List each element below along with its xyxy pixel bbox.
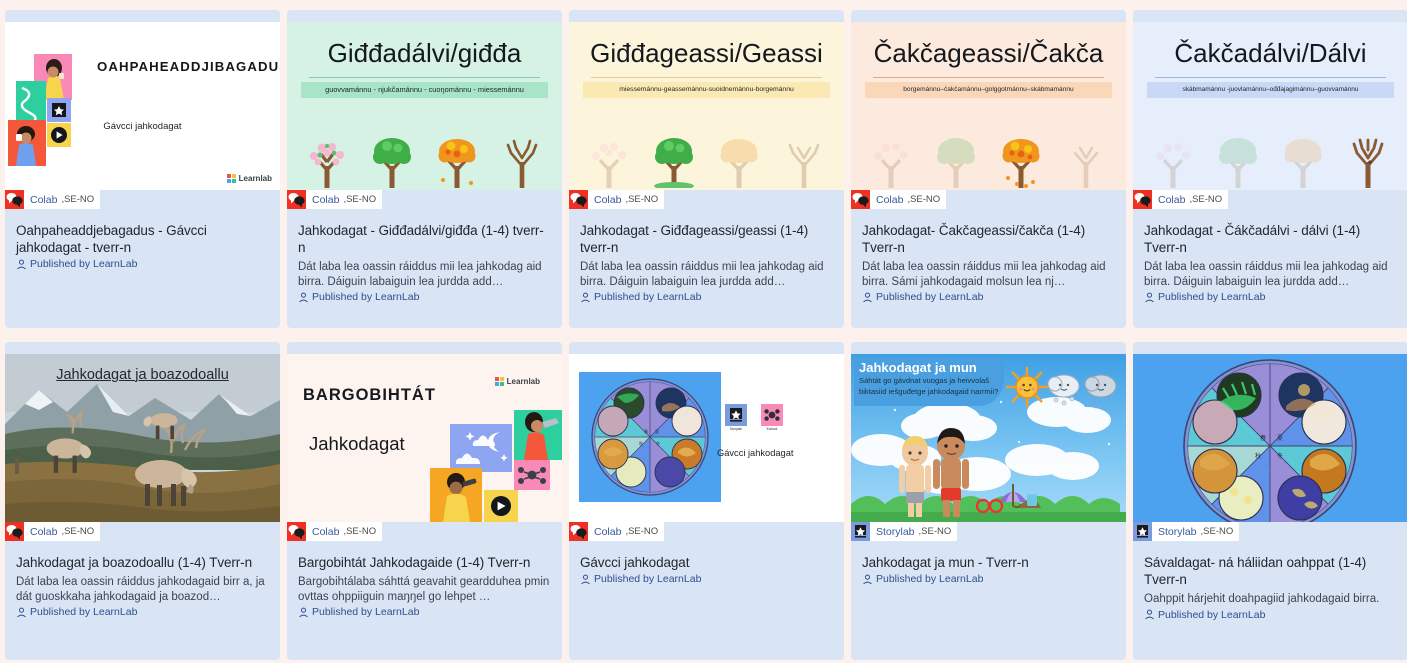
card-body: Jahkodagat - Čákčadálvi - dálvi (1-4) Tv…	[1133, 209, 1407, 328]
thumb-months: skábmamánnu -juovlamánnu–ođđajagimánnu–g…	[1147, 82, 1394, 98]
seasons-wheel-graphic: 春夏秋冬 ·	[1133, 354, 1407, 522]
learnlab-wordmark: Learnlab	[239, 174, 272, 183]
learnlab-mark-icon	[227, 174, 236, 183]
resource-card[interactable]: Jahkodagat ja mun Sáhtát go gávdnat vuog…	[851, 342, 1126, 660]
colab-icon	[851, 190, 870, 209]
badge-label: Colab	[876, 194, 903, 206]
kahoot-app-tile: Kahoot	[761, 404, 783, 426]
learnlab-wordmark: Learnlab	[507, 377, 540, 386]
badge-locale: ,SE-NO	[1189, 194, 1222, 205]
badge-locale: ,SE-NO	[61, 526, 94, 537]
badge-locale: ,SE-NO	[1201, 526, 1234, 537]
card-thumbnail: Čakčadálvi/Dálvi skábmamánnu -juovlamánn…	[1133, 22, 1407, 190]
badge-label: Colab	[30, 194, 57, 206]
person-icon	[580, 574, 591, 585]
card-body: Jahkodagat- Čakčageassi/čakča (1-4) Tver…	[851, 209, 1126, 328]
resource-card[interactable]: OAHPAHEADDJIBAGADUS Gávcci jahkodagat Le…	[5, 10, 280, 328]
card-meta-label: Published by LearnLab	[30, 606, 137, 618]
card-meta-label: Published by LearnLab	[594, 573, 701, 585]
badge-locale: ,SE-NO	[625, 194, 658, 205]
resource-card-grid: OAHPAHEADDJIBAGADUS Gávcci jahkodagat Le…	[0, 0, 1407, 660]
card-title: Sávaldagat- ná háliidan oahppat (1-4) Tv…	[1144, 554, 1397, 588]
card-title: Jahkodagat ja boazodoallu (1-4) Tverr-n	[16, 554, 269, 571]
badge-label: Storylab	[876, 526, 915, 538]
four-seasons-trees	[295, 110, 554, 188]
thumb-months: guovvamánnu - njukčamánnu - cuoŋománnu -…	[301, 82, 548, 98]
storylab-app-tile: Storylab	[725, 404, 747, 426]
source-badge: Colab ,SE-NO	[569, 522, 664, 541]
thumb-season-title: Čakčadálvi/Dálvi	[1133, 38, 1407, 69]
source-badge: Colab ,SE-NO	[1133, 190, 1228, 209]
card-description: Dát laba lea oassin ráiddus mii lea jahk…	[580, 260, 833, 289]
resource-card[interactable]: Jahkodagat ja boazodoallu Colab ,SE-NO J…	[5, 342, 280, 660]
thumb-bubble-text: Sáhtát go gávdnat vuogas ja heivvolaš bi…	[859, 376, 1007, 397]
resource-card[interactable]: 春夏秋冬 Storylab Kahoot Gávcci jahkodagat	[569, 342, 844, 660]
badge-locale: ,SE-NO	[919, 526, 952, 537]
badge-locale: ,SE-NO	[907, 194, 940, 205]
storylab-book-icon	[1133, 522, 1152, 541]
colab-icon	[1133, 190, 1152, 209]
badge-locale: ,SE-NO	[343, 194, 376, 205]
seasons-wheel-graphic: 春夏秋冬	[579, 372, 721, 502]
sun-icon	[1006, 367, 1048, 407]
thumb-heading: BARGOBIHTÁT	[303, 386, 436, 405]
svg-text:夏: 夏	[1277, 435, 1283, 442]
card-body: Jahkodagat ja boazodoallu (1-4) Tverr-n …	[5, 541, 280, 660]
resource-card[interactable]: Giđđageassi/Geassi miessemánnu-geassemán…	[569, 10, 844, 328]
colab-icon	[287, 522, 306, 541]
card-body: Jahkodagat ja mun - Tverr-n Published by…	[851, 541, 1126, 660]
card-title: Jahkodagat ja mun - Tverr-n	[862, 554, 1115, 571]
resource-card[interactable]: Čakčadálvi/Dálvi skábmamánnu -juovlamánn…	[1133, 10, 1407, 328]
card-body: Sávaldagat- ná háliidan oahppat (1-4) Tv…	[1133, 541, 1407, 660]
source-badge: Storylab ,SE-NO	[851, 522, 957, 541]
badge-label: Colab	[30, 526, 57, 538]
card-title: Gávcci jahkodagat	[580, 554, 833, 571]
card-thumbnail: Giđđadálvi/giđđa guovvamánnu - njukčamán…	[287, 22, 562, 190]
card-meta: Published by LearnLab	[16, 258, 269, 270]
person-icon	[862, 292, 873, 303]
badge-label: Colab	[1158, 194, 1185, 206]
colab-icon	[287, 190, 306, 209]
card-meta-label: Published by LearnLab	[312, 291, 419, 303]
card-body: Bargobihtát Jahkodagaide (1-4) Tverr-n B…	[287, 541, 562, 660]
card-meta: Published by LearnLab	[298, 291, 551, 303]
badge-label: Colab	[594, 526, 621, 538]
card-meta: Published by LearnLab	[580, 291, 833, 303]
person-icon	[298, 607, 309, 618]
card-thumbnail: 春夏秋冬 ·	[1133, 354, 1407, 522]
card-body: Jahkodagat - Giđđadálvi/giđđa (1-4) tver…	[287, 209, 562, 328]
badge-label: Storylab	[1158, 526, 1197, 538]
source-badge: Colab ,SE-NO	[851, 190, 946, 209]
svg-text:冬: 冬	[1277, 452, 1283, 460]
card-thumbnail: Čakčageassi/Čakča borgemánnu–čakčamánnu–…	[851, 22, 1126, 190]
svg-text:秋: 秋	[639, 440, 643, 446]
source-badge: Colab ,SE-NO	[5, 190, 100, 209]
card-meta-label: Published by LearnLab	[1158, 609, 1265, 621]
badge-label: Colab	[594, 194, 621, 206]
thumb-subtitle: Gávcci jahkodagat	[5, 121, 280, 132]
four-seasons-trees	[1141, 110, 1400, 188]
svg-text:冬: 冬	[656, 440, 660, 446]
thumb-bubble-title: Jahkodagat ja mun	[859, 360, 977, 375]
thumb-subheading: Jahkodagat	[309, 433, 405, 455]
card-meta-label: Published by LearnLab	[30, 258, 137, 270]
card-title: Jahkodagat - Giđđadálvi/giđđa (1-4) tver…	[298, 222, 551, 256]
source-badge: Storylab ,SE-NO	[1133, 522, 1239, 541]
card-body: Oahpaheaddjebagadus - Gávcci jahkodagat …	[5, 209, 280, 328]
resource-card[interactable]: 春夏秋冬 · Storylab ,SE-NO Sávaldagat- ná há…	[1133, 342, 1407, 660]
colab-icon	[5, 522, 24, 541]
card-meta: Published by LearnLab	[1144, 291, 1397, 303]
svg-text:夏: 夏	[655, 428, 659, 434]
card-title: Jahkodagat- Čakčageassi/čakča (1-4) Tver…	[862, 222, 1115, 256]
source-badge: Colab ,SE-NO	[287, 522, 382, 541]
thumb-label: Gávcci jahkodagat	[717, 448, 794, 458]
person-icon	[1144, 609, 1155, 620]
card-title: Bargobihtát Jahkodagaide (1-4) Tverr-n	[298, 554, 551, 571]
card-description: Oahppit hárjehit doahpagiid jahkodagaid …	[1144, 592, 1397, 607]
card-title: Jahkodagat - Čákčadálvi - dálvi (1-4) Tv…	[1144, 222, 1397, 256]
thumb-season-title: Čakčageassi/Čakča	[851, 38, 1126, 69]
collage-illustration	[418, 410, 562, 522]
card-meta: Published by LearnLab	[1144, 609, 1397, 621]
svg-text:春: 春	[1260, 434, 1266, 442]
card-description: Dát laba lea oassin ráiddus mii lea jahk…	[298, 260, 551, 289]
app-tile-caption: Storylab	[718, 427, 754, 431]
storylab-book-icon	[851, 522, 870, 541]
card-meta-label: Published by LearnLab	[876, 573, 983, 585]
thumb-season-title: Giđđadálvi/giđđa	[287, 38, 562, 69]
learnlab-logo: Learnlab	[495, 377, 540, 386]
badge-locale: ,SE-NO	[625, 526, 658, 537]
badge-label: Colab	[312, 526, 339, 538]
thumb-months: miessemánnu-geassemánnu-suoidnemánnu-bor…	[583, 82, 830, 98]
person-icon	[16, 259, 27, 270]
badge-label: Colab	[312, 194, 339, 206]
card-body: Gávcci jahkodagat Published by LearnLab	[569, 541, 844, 660]
card-description: Bargobihtálaba sáhttá geavahit geardduhe…	[298, 575, 551, 604]
card-meta-label: Published by LearnLab	[876, 291, 983, 303]
person-icon	[862, 574, 873, 585]
reindeer-photo: Jahkodagat ja boazodoallu	[5, 354, 280, 522]
card-title: Oahpaheaddjebagadus - Gávcci jahkodagat …	[16, 222, 269, 256]
card-thumbnail: OAHPAHEADDJIBAGADUS Gávcci jahkodagat Le…	[5, 22, 280, 190]
card-meta: Published by LearnLab	[16, 606, 269, 618]
card-meta: Published by LearnLab	[862, 291, 1115, 303]
card-meta-label: Published by LearnLab	[312, 606, 419, 618]
card-thumbnail: Jahkodagat ja boazodoallu	[5, 354, 280, 522]
card-thumbnail: Giđđageassi/Geassi miessemánnu-geassemán…	[569, 22, 844, 190]
card-meta: Published by LearnLab	[580, 573, 833, 585]
card-thumbnail: 春夏秋冬 Storylab Kahoot Gávcci jahkodagat	[569, 354, 844, 522]
person-icon	[580, 292, 591, 303]
thumb-months: borgemánnu–čakčamánnu–golggotmánnu–skábm…	[865, 82, 1112, 98]
learnlab-mark-icon	[495, 377, 504, 386]
card-body: Jahkodagat - Giđđageassi/geassi (1-4) tv…	[569, 209, 844, 328]
resource-card[interactable]: Learnlab BARGOBIHTÁT Jahkodagat	[287, 342, 562, 660]
card-description: Dát laba lea oassin ráiddus mii lea jahk…	[1144, 260, 1397, 289]
source-badge: Colab ,SE-NO	[5, 522, 100, 541]
card-description: Dát laba lea oassin ráiddus jahkodagaid …	[16, 575, 269, 604]
colab-icon	[569, 522, 588, 541]
thumb-season-title: Giđđageassi/Geassi	[569, 38, 844, 69]
card-meta-label: Published by LearnLab	[594, 291, 701, 303]
four-seasons-trees	[859, 110, 1118, 188]
card-meta-label: Published by LearnLab	[1158, 291, 1265, 303]
svg-text:秋: 秋	[1255, 452, 1261, 460]
card-meta: Published by LearnLab	[862, 573, 1115, 585]
badge-locale: ,SE-NO	[343, 526, 376, 537]
colab-icon	[5, 190, 24, 209]
badge-locale: ,SE-NO	[61, 194, 94, 205]
card-description: Dát laba lea oassin ráiddus mii lea jahk…	[862, 260, 1115, 289]
colab-icon	[569, 190, 588, 209]
source-badge: Colab ,SE-NO	[287, 190, 382, 209]
resource-card[interactable]: Čakčageassi/Čakča borgemánnu–čakčamánnu–…	[851, 10, 1126, 328]
person-icon	[298, 292, 309, 303]
learnlab-logo: Learnlab	[227, 174, 272, 183]
person-icon	[1144, 292, 1155, 303]
source-badge: Colab ,SE-NO	[569, 190, 664, 209]
app-tile-caption: Kahoot	[754, 427, 790, 431]
four-seasons-trees	[577, 110, 836, 188]
card-meta: Published by LearnLab	[298, 606, 551, 618]
card-thumbnail: Jahkodagat ja mun Sáhtát go gávdnat vuog…	[851, 354, 1126, 522]
card-title: Jahkodagat - Giđđageassi/geassi (1-4) tv…	[580, 222, 833, 256]
person-icon	[16, 607, 27, 618]
resource-card[interactable]: Giđđadálvi/giđđa guovvamánnu - njukčamán…	[287, 10, 562, 328]
collage-illustration	[8, 54, 86, 168]
card-thumbnail: Learnlab BARGOBIHTÁT Jahkodagat	[287, 354, 562, 522]
svg-text:春: 春	[644, 428, 648, 434]
thumb-heading: OAHPAHEADDJIBAGADUS	[97, 59, 280, 74]
thumb-overlay-title: Jahkodagat ja boazodoallu	[5, 367, 280, 383]
